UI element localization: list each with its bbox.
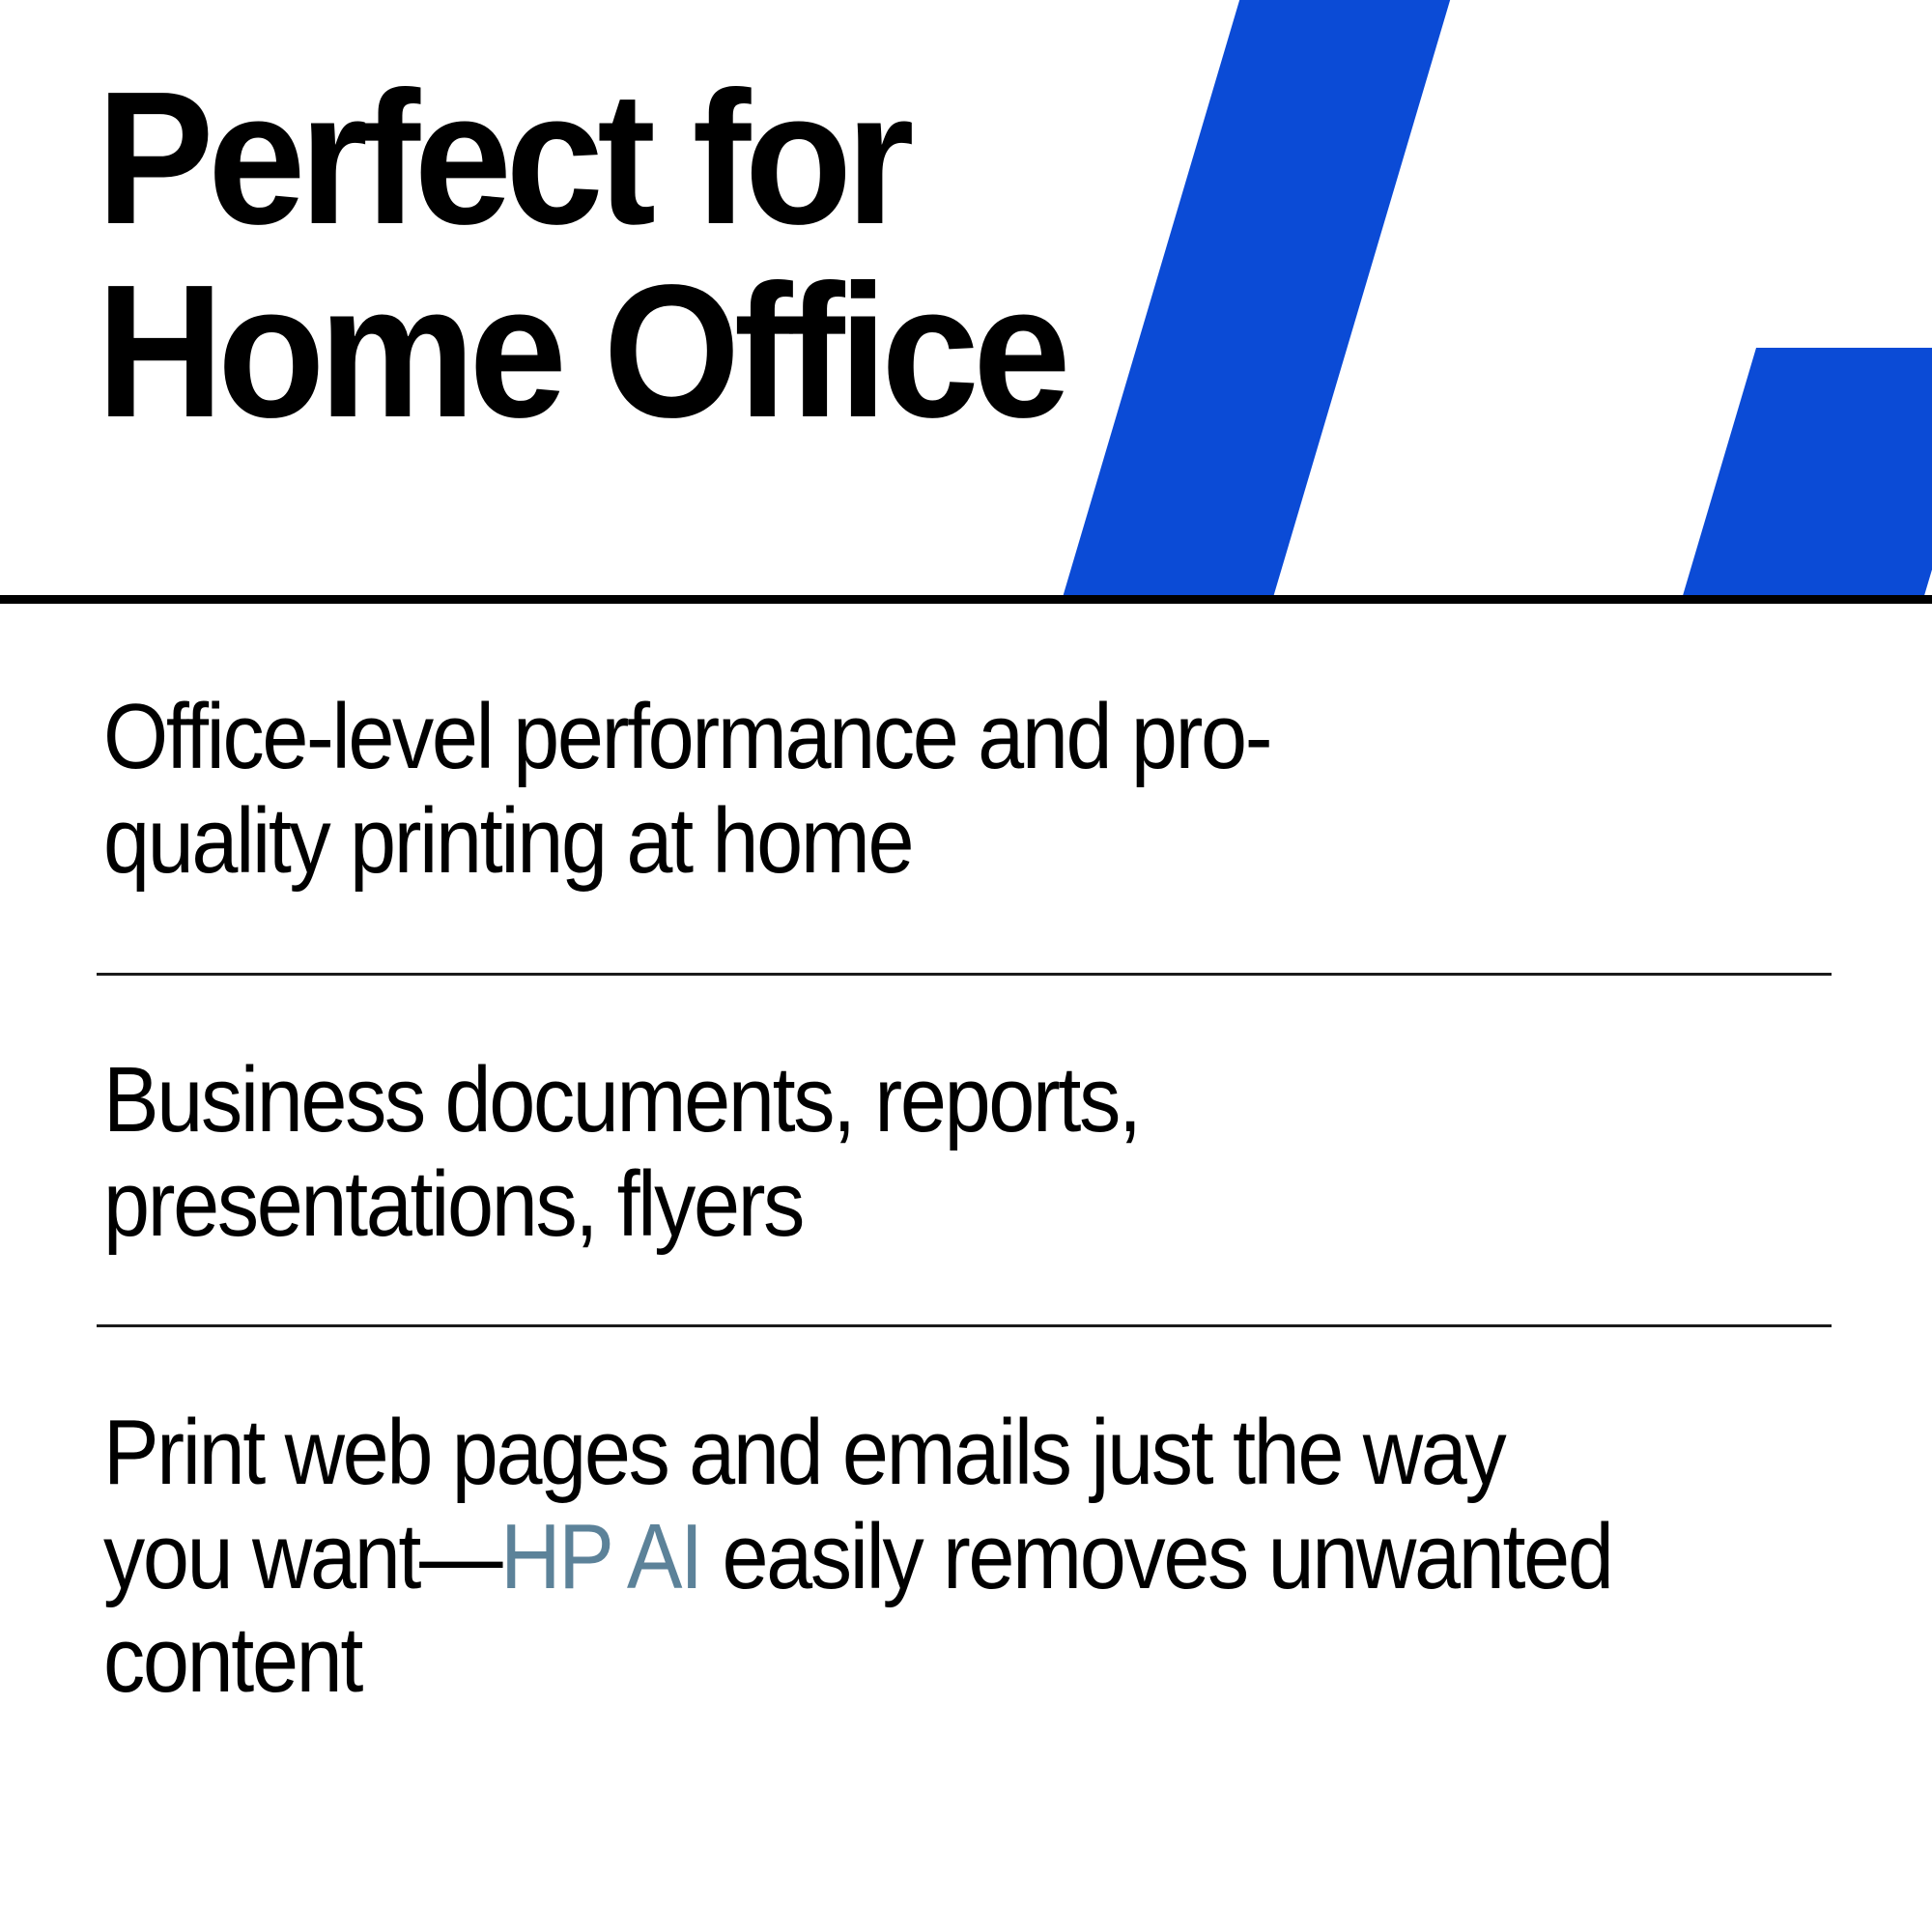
marketing-card: Perfect for Home Office Office-level per… bbox=[0, 0, 1932, 1932]
hero-section: Perfect for Home Office bbox=[0, 0, 1932, 595]
page-title: Perfect for Home Office bbox=[97, 62, 1103, 448]
benefit-text-documents: Business documents, reports, presentatio… bbox=[103, 1048, 1512, 1256]
benefit-text-performance: Office-level performance and pro-quality… bbox=[103, 685, 1460, 893]
blue-slash-secondary-shape bbox=[1670, 348, 1932, 595]
blue-slash-primary-shape bbox=[1051, 0, 1462, 595]
benefit-text-ai-print: Print web pages and emails just the way … bbox=[103, 1401, 1625, 1713]
hp-ai-accent-label: HP AI bbox=[500, 1505, 701, 1608]
header-divider-heavy bbox=[0, 595, 1932, 604]
benefit-divider-2 bbox=[97, 1324, 1832, 1327]
benefit-divider-1 bbox=[97, 973, 1832, 976]
